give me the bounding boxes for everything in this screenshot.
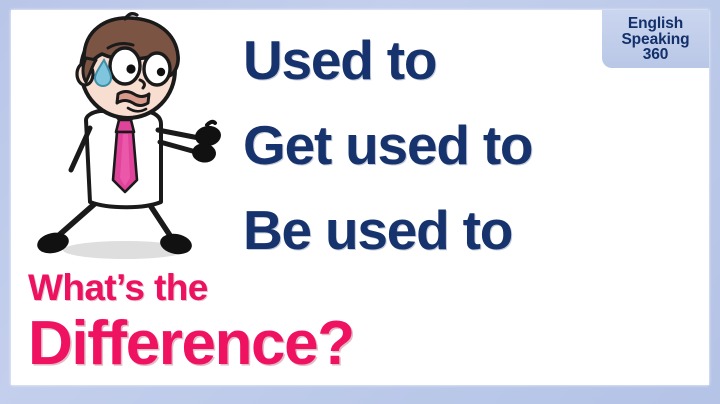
thumbnail-canvas: English Speaking 360 Used to Get used to… [11, 10, 709, 385]
character-left-pupil [126, 64, 135, 73]
character-lower-fist [191, 142, 217, 163]
character-right-pupil [157, 68, 165, 76]
headline-block: Used to Get used to Be used to [243, 18, 693, 273]
subhead-block: What’s the Difference? [28, 265, 688, 378]
character-tie-knot [116, 120, 134, 132]
character-front-leg [148, 202, 171, 237]
character-left-eye [110, 48, 140, 84]
worried-cartoon-businessman-illustration [24, 12, 239, 272]
headline-line-get-used-to: Get used to [243, 103, 693, 188]
thumbnail-image: English Speaking 360 Used to Get used to… [0, 0, 720, 404]
character-front-arm [158, 130, 199, 138]
character-right-eye [144, 53, 170, 85]
character-thumb [207, 122, 215, 125]
headline-line-used-to: Used to [243, 18, 693, 103]
subhead-difference: Difference? [28, 310, 688, 378]
subhead-whats-the: What’s the [28, 265, 688, 310]
headline-line-be-used-to: Be used to [243, 188, 693, 273]
character-front-arm-lower [160, 142, 196, 152]
character-back-leg [58, 200, 99, 236]
